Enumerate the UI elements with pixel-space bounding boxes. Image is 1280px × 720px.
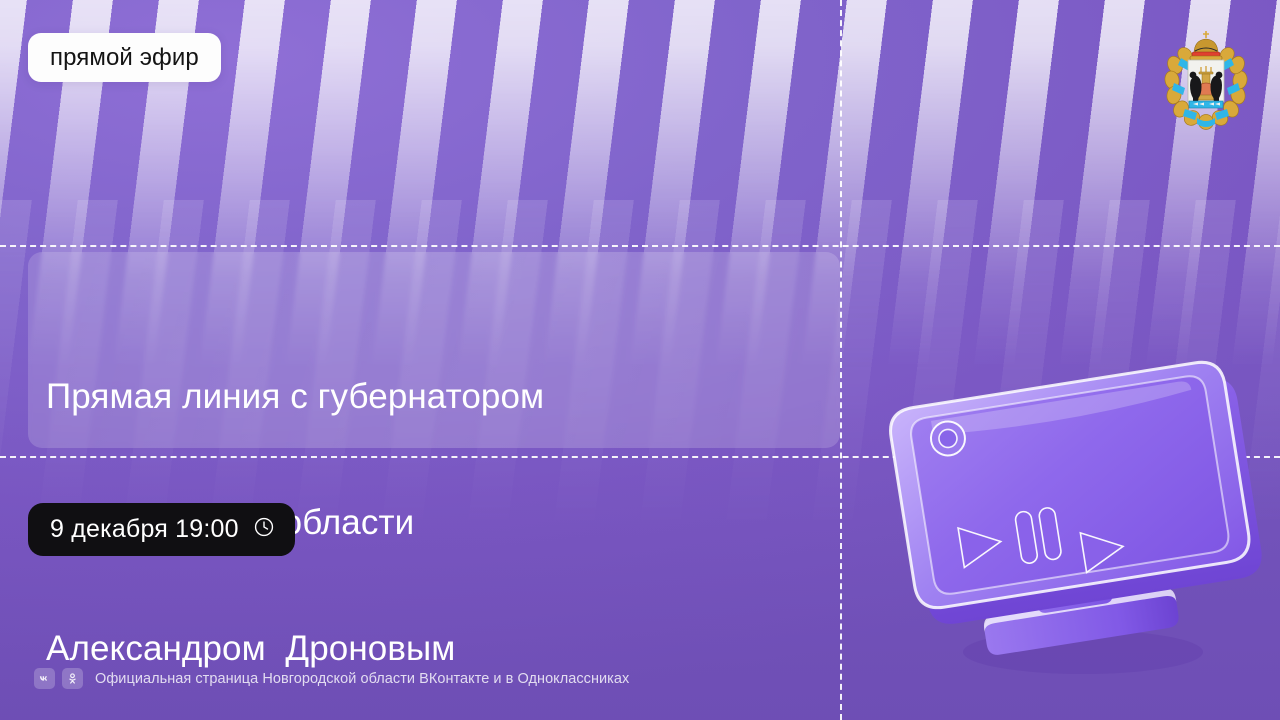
guide-line-horizontal-top [0,245,1280,247]
coat-of-arms-icon [1161,25,1251,137]
footer-label: Официальная страница Новгородской област… [95,671,629,687]
broadcast-announcement-slide: прямой эфир [0,0,1280,720]
guide-line-vertical [840,0,842,720]
date-time-badge: 9 декабря 19:00 [28,503,295,556]
title-line-3: Александром Дроновым [46,628,806,670]
title-line-1: Прямая линия с губернатором [46,376,806,418]
clock-icon [253,516,275,543]
ok-icon[interactable] [62,668,83,689]
date-time-label: 9 декабря 19:00 [50,515,239,544]
live-badge: прямой эфир [28,33,221,82]
vk-icon[interactable] [34,668,55,689]
tv-media-player-illustration [888,352,1280,692]
footer: Официальная страница Новгородской област… [34,668,629,689]
live-badge-label: прямой эфир [50,44,199,72]
